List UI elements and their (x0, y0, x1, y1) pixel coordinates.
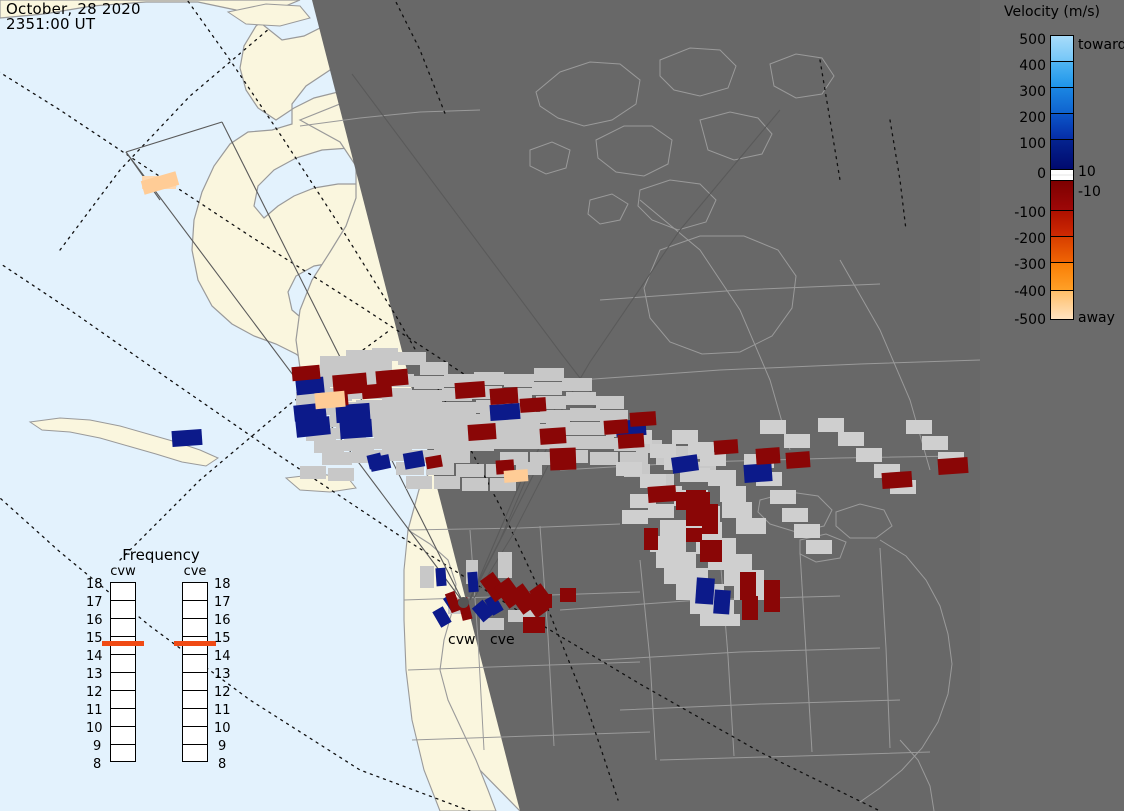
frequency-scale-right-13: 13 (214, 667, 231, 682)
colorbar-tick-neg500: -500 (1014, 312, 1046, 328)
colorbar-segment-100-200 (1051, 114, 1073, 140)
frequency-scale-left-18: 18 (86, 577, 103, 592)
radar-label-cvw: cvw (448, 632, 475, 648)
frequency-scale-right-11: 11 (214, 703, 231, 718)
colorbar-segment-neg100-neg200 (1051, 211, 1073, 237)
frequency-legend-title: Frequency (86, 546, 236, 564)
frequency-scale-right-16: 16 (214, 613, 231, 628)
colorbar-tick-100: 100 (1019, 136, 1046, 152)
colorbar-tick-300: 300 (1019, 84, 1046, 100)
frequency-scale-left-9: 9 (93, 739, 101, 754)
frequency-scale-left-16: 16 (86, 613, 103, 628)
radar-site-marker (458, 597, 469, 608)
frequency-column-label-cvw: cvw (102, 564, 144, 579)
frequency-scale-right-9: 9 (218, 739, 226, 754)
frequency-scale-left-15: 15 (86, 631, 103, 646)
colorbar-tick-neg400: -400 (1014, 284, 1046, 300)
colorbar-segment-neg300-neg400 (1051, 263, 1073, 291)
frequency-legend: Frequency cvw cve (86, 546, 236, 791)
frequency-scale-right-8: 8 (218, 757, 226, 772)
frequency-column-label-cve: cve (174, 564, 216, 579)
frequency-scale-left-14: 14 (86, 649, 103, 664)
colorbar-segment-zero (1051, 170, 1073, 181)
frequency-scale-left-8: 8 (93, 757, 101, 772)
timestamp-time: 2351:00 UT (6, 17, 141, 32)
frequency-scale-right-10: 10 (214, 721, 231, 736)
frequency-marker-cvw (102, 641, 144, 646)
colorbar-tick-neg300: -300 (1014, 257, 1046, 273)
colorbar-tick-0: 0 (1037, 166, 1046, 182)
colorbar-label-positive-10: 10 (1078, 164, 1096, 180)
frequency-marker-cve (174, 641, 216, 646)
colorbar-segment-10-100 (1051, 140, 1073, 170)
colorbar-label-negative-10: -10 (1078, 184, 1101, 200)
frequency-scale-right-12: 12 (214, 685, 231, 700)
frequency-scale-right-15: 15 (214, 631, 231, 646)
frequency-scale-right-18: 18 (214, 577, 231, 592)
frequency-scale-left-17: 17 (86, 595, 103, 610)
superdarn-velocity-map: October, 28 2020 2351:00 UT cvw cve Freq… (0, 0, 1124, 811)
colorbar-segment-neg200-neg300 (1051, 237, 1073, 263)
colorbar-label-toward: toward (1078, 37, 1124, 53)
colorbar-label-away: away (1078, 310, 1115, 326)
colorbar-tick-neg200: -200 (1014, 231, 1046, 247)
colorbar-tick-500: 500 (1019, 32, 1046, 48)
timestamp: October, 28 2020 2351:00 UT (6, 2, 141, 32)
colorbar-segment-neg10-neg100 (1051, 181, 1073, 211)
colorbar-segment-neg400-neg500 (1051, 291, 1073, 319)
colorbar-segment-200-300 (1051, 88, 1073, 114)
map-panel[interactable]: October, 28 2020 2351:00 UT cvw cve Freq… (0, 0, 980, 811)
colorbar-segment-400-500 (1051, 36, 1073, 62)
frequency-scale-right-14: 14 (214, 649, 231, 664)
colorbar-segment-300-400 (1051, 62, 1073, 88)
frequency-bar-cve (182, 582, 208, 762)
colorbar-gradient (1050, 35, 1074, 320)
velocity-colorbar: Velocity (m/s) 500 400 300 200 100 0 -10… (984, 0, 1124, 811)
frequency-scale-right-17: 17 (214, 595, 231, 610)
colorbar-tick-200: 200 (1019, 110, 1046, 126)
frequency-bar-cvw (110, 582, 136, 762)
colorbar-title: Velocity (m/s) (984, 4, 1120, 20)
frequency-scale-left-10: 10 (86, 721, 103, 736)
frequency-scale-left-13: 13 (86, 667, 103, 682)
colorbar-tick-neg100: -100 (1014, 205, 1046, 221)
frequency-scale-left-11: 11 (86, 703, 103, 718)
colorbar-tick-400: 400 (1019, 58, 1046, 74)
frequency-scale-left-12: 12 (86, 685, 103, 700)
radar-label-cve: cve (490, 632, 515, 648)
